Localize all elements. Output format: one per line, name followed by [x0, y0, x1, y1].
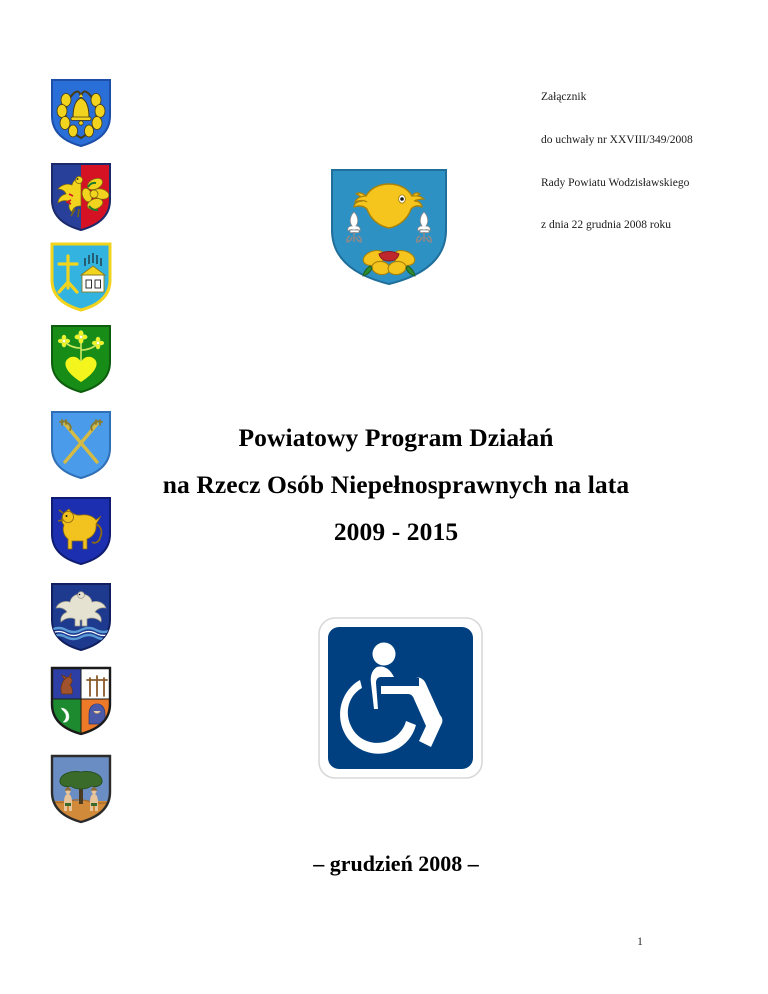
- crest-cross-and-church-icon: [49, 242, 113, 312]
- title-line-3: 2009 - 2015: [96, 508, 696, 555]
- crest-eagle-and-flower-icon: [49, 162, 113, 232]
- main-coat-of-arms: [326, 166, 452, 288]
- crest-bell-and-vine-icon: [49, 78, 113, 148]
- crest-quartered-icon: [49, 666, 113, 736]
- header-note-line-2: do uchwały nr XXVIII/349/2008: [541, 133, 761, 147]
- header-note-line-1: Załącznik: [541, 90, 761, 104]
- publication-date: – grudzień 2008 –: [96, 851, 696, 877]
- page-title: Powiatowy Program Działań na Rzecz Osób …: [96, 414, 696, 555]
- wheelchair-accessibility-icon: [318, 617, 483, 779]
- title-line-1: Powiatowy Program Działań: [96, 414, 696, 461]
- crest-tree-with-figures-icon: [49, 754, 113, 824]
- crest-white-eagle-over-waves-icon: [49, 582, 113, 652]
- header-note-line-4: z dnia 22 grudnia 2008 roku: [541, 218, 761, 232]
- page-number: 1: [600, 936, 680, 948]
- header-note-line-3: Rady Powiatu Wodzisławskiego: [541, 176, 761, 190]
- title-line-2: na Rzecz Osób Niepełnosprawnych na lata: [96, 461, 696, 508]
- crest-heart-and-flowers-icon: [49, 324, 113, 394]
- appendix-header-note: Załącznik do uchwały nr XXVIII/349/2008 …: [541, 62, 761, 247]
